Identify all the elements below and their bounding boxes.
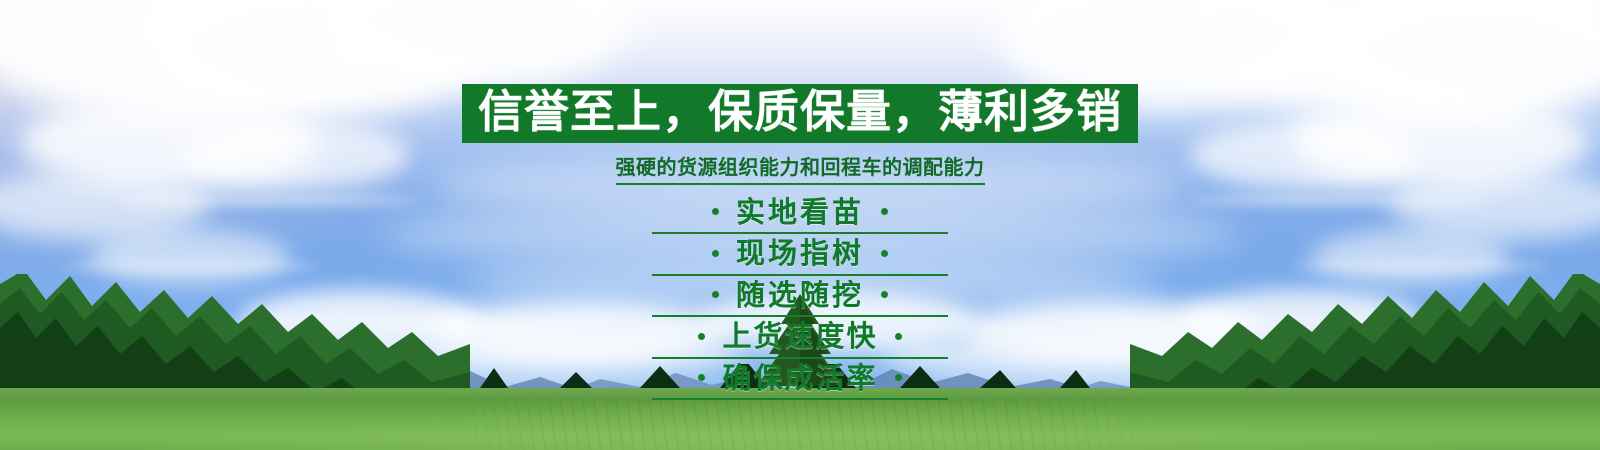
subtitle-text: 强硬的货源组织能力和回程车的调配能力 [616, 151, 985, 185]
feature-label: 上货速度快 [722, 320, 877, 352]
feature-list: 实地看苗 现场指树 随选随挖 上货速度快 确保成活率 [652, 195, 948, 402]
feature-item-5: 确保成活率 [652, 361, 948, 400]
feature-item-4: 上货速度快 [652, 319, 948, 358]
hero-banner: 信誉至上，保质保量，薄利多销 强硬的货源组织能力和回程车的调配能力 实地看苗 现… [0, 0, 1600, 450]
headline-text: 信誉至上，保质保量，薄利多销 [478, 88, 1122, 136]
feature-item-3: 随选随挖 [652, 278, 948, 317]
bullet-dot-icon [895, 333, 902, 340]
feature-item-2: 现场指树 [652, 236, 948, 275]
feature-label: 现场指树 [736, 237, 864, 269]
bullet-dot-icon [712, 250, 719, 257]
headline-banner: 信誉至上，保质保量，薄利多销 [462, 84, 1138, 143]
feature-item-1: 实地看苗 [652, 195, 948, 234]
bullet-dot-icon [698, 333, 705, 340]
bullet-dot-icon [881, 208, 888, 215]
bullet-dot-icon [895, 374, 902, 381]
feature-label: 实地看苗 [736, 196, 864, 228]
bullet-dot-icon [698, 374, 705, 381]
bullet-dot-icon [881, 291, 888, 298]
bullet-dot-icon [712, 208, 719, 215]
feature-label: 确保成活率 [722, 362, 877, 394]
feature-label: 随选随挖 [736, 279, 864, 311]
banner-content: 信誉至上，保质保量，薄利多销 强硬的货源组织能力和回程车的调配能力 实地看苗 现… [0, 0, 1600, 450]
bullet-dot-icon [712, 291, 719, 298]
bullet-dot-icon [881, 250, 888, 257]
